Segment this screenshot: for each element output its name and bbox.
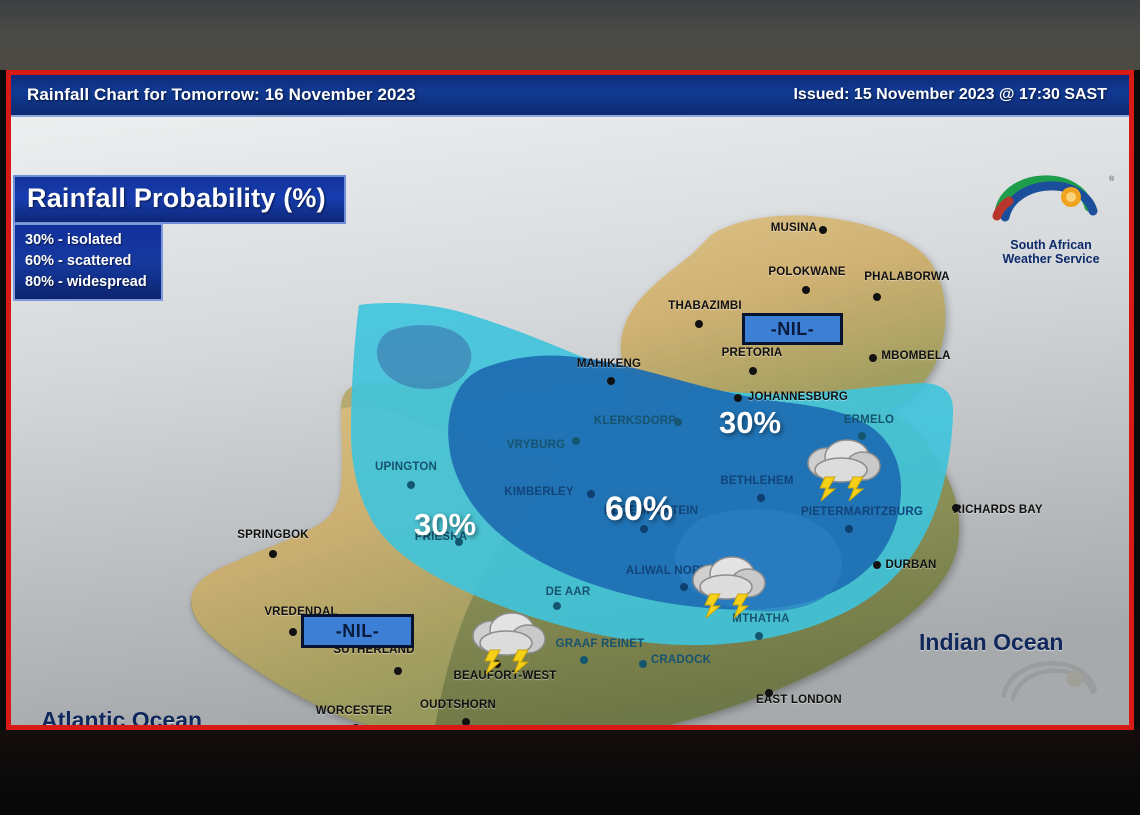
city-label: DE AAR — [546, 586, 591, 598]
city-dot — [553, 602, 561, 610]
city-label: PHALABORWA — [864, 271, 949, 283]
city-label: PRETORIA — [722, 347, 783, 359]
thunderstorm-icon — [801, 437, 883, 508]
city-dot — [289, 628, 297, 636]
issued-timestamp: Issued: 15 November 2023 @ 17:30 SAST — [793, 86, 1107, 104]
letterbox-bottom — [0, 730, 1140, 815]
registered-mark-glyph: ® — [1109, 175, 1115, 183]
city-label: VRYBURG — [507, 439, 565, 451]
city-dot — [869, 354, 877, 362]
city-dot — [873, 293, 881, 301]
city-dot — [819, 226, 827, 234]
city-dot — [639, 660, 647, 668]
city-label: THABAZIMBI — [668, 300, 742, 312]
header-bar: Rainfall Chart for Tomorrow: 16 November… — [11, 75, 1129, 117]
city-label: UPINGTON — [375, 461, 437, 473]
probability-label-30-east: 30% — [719, 405, 781, 441]
city-dot — [352, 724, 360, 725]
probability-label-30-west: 30% — [414, 507, 476, 543]
city-dot — [802, 286, 810, 294]
ocean-label-atlantic: Atlantic Ocean — [41, 707, 202, 725]
city-dot — [749, 367, 757, 375]
thunderstorm-icon — [686, 554, 768, 625]
city-label: KIMBERLEY — [504, 486, 574, 498]
city-label: GRAAF REINET — [556, 638, 645, 650]
legend-plate: 30% - isolated 60% - scattered 80% - wid… — [13, 223, 163, 301]
city-label: KLERKSDORP — [594, 415, 677, 427]
city-dot — [462, 718, 470, 725]
legend-item-30: 30% - isolated — [25, 230, 147, 251]
city-dot — [580, 656, 588, 664]
city-label: MUSINA — [771, 222, 818, 234]
logo-line-2: Weather Service — [985, 252, 1117, 266]
probability-label-60-central: 60% — [605, 490, 673, 529]
city-label: ERMELO — [844, 414, 894, 426]
nil-label-west: -NIL- — [336, 621, 379, 642]
title-plate: Rainfall Probability (%) — [13, 175, 346, 224]
legend-item-60: 60% - scattered — [25, 251, 147, 272]
letterbox-top — [0, 0, 1140, 70]
saws-logo: ® South African Weather Service — [985, 169, 1117, 267]
title-plate-label: Rainfall Probability (%) — [27, 183, 326, 213]
city-dot — [765, 689, 773, 697]
logo-line-1: South African — [985, 238, 1117, 252]
city-dot — [845, 525, 853, 533]
ocean-label-indian: Indian Ocean — [919, 629, 1063, 656]
saws-logo-mark: ® — [985, 169, 1117, 231]
chart-title: Rainfall Chart for Tomorrow: 16 November… — [27, 85, 416, 105]
city-dot — [674, 418, 682, 426]
city-dot — [734, 394, 742, 402]
screenshot-stage: Rainfall Chart for Tomorrow: 16 November… — [0, 0, 1140, 815]
city-dot — [587, 490, 595, 498]
city-label: SPRINGBOK — [237, 529, 308, 541]
city-dot — [572, 437, 580, 445]
city-label: WORCESTER — [316, 705, 393, 717]
city-label: OUDTSHORN — [420, 699, 496, 711]
city-label: POLOKWANE — [768, 266, 845, 278]
city-label: BETHLEHEM — [720, 475, 793, 487]
city-dot — [873, 561, 881, 569]
city-label: RICHARDS BAY — [953, 504, 1043, 516]
city-dot — [394, 667, 402, 675]
legend-item-80: 80% - widespread — [25, 272, 147, 293]
city-dot — [407, 481, 415, 489]
city-label: MAHIKENG — [577, 358, 641, 370]
city-label: DURBAN — [885, 559, 936, 571]
city-label: CRADOCK — [651, 654, 711, 666]
city-dot — [757, 494, 765, 502]
city-label: MBOMBELA — [881, 350, 950, 362]
city-dot — [269, 550, 277, 558]
map-canvas: Rainfall Probability (%) 30% - isolated … — [11, 117, 1129, 725]
city-label: JOHANNESBURG — [748, 391, 848, 403]
city-dot — [952, 504, 960, 512]
nil-box-west: -NIL- — [301, 614, 414, 648]
thunderstorm-icon — [466, 610, 548, 681]
nil-label-north: -NIL- — [771, 319, 814, 340]
city-dot — [755, 632, 763, 640]
city-dot — [607, 377, 615, 385]
nil-box-north: -NIL- — [742, 313, 843, 345]
city-dot — [695, 320, 703, 328]
broadcast-graphic-frame: Rainfall Chart for Tomorrow: 16 November… — [6, 70, 1134, 730]
